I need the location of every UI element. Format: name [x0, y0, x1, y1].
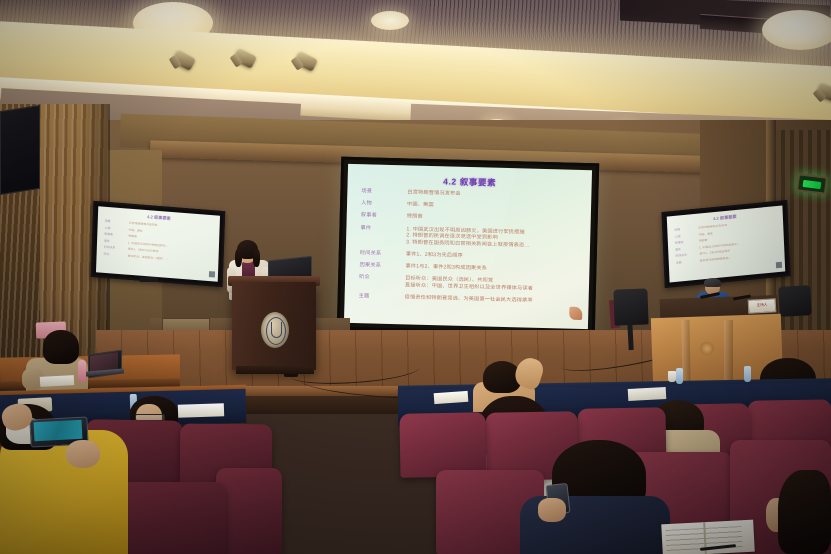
- projection-screen-surface: 4.2 叙事要素 场景白宫特朗普情况发布会人物中国、美国叙事者特朗普事件1. 中…: [344, 164, 592, 329]
- track-spotlight: [816, 83, 831, 102]
- lecture-hall-photo: 4.2 叙事要素 场景白宫特朗普情况发布会人物中国、美国叙事者特朗普事件1. 中…: [0, 0, 831, 554]
- slide-row: 时间关系事件1、2和3为先后顺序: [360, 250, 582, 262]
- slide-row-value: 事件1与2、事件2和3构成因果关系: [405, 263, 487, 272]
- slide-row-value: 中国、美国: [407, 202, 434, 209]
- monitor-row-label: 叙事者: [675, 240, 699, 246]
- stage-chair: [613, 288, 648, 325]
- slide-row-label: 时间关系: [360, 250, 406, 258]
- monitor-row-label: 主题: [676, 260, 700, 266]
- slide-row-label: 场景: [361, 188, 407, 196]
- tablecloth-knot: [700, 342, 714, 355]
- slide-row: 事件1. 中国武汉出现不明原因肺炎，美国进行安抚措施2. 特朗普的民调在逐次竞选…: [360, 225, 582, 251]
- ceiling-downlight: [762, 10, 831, 50]
- monitor-row-label: 事件: [675, 246, 699, 252]
- podium-base: [236, 366, 314, 374]
- monitor-row-value: 特朗普: [699, 239, 708, 243]
- exit-icon: [803, 179, 822, 188]
- monitor-row-label: 时间关系: [104, 246, 128, 251]
- slide-row-label: 叙事者: [361, 213, 407, 221]
- desk-paper: [628, 387, 667, 401]
- monitor-row-label: 场景: [105, 220, 129, 225]
- desk-paper: [40, 375, 74, 387]
- wall-monitor-left: 4.2 叙事要素 场景白宫特朗普情况发布会人物中国、美国叙事者特朗普事件1. 中…: [91, 201, 225, 287]
- monitor-row-value: 白宫特朗普情况发布会: [698, 224, 727, 230]
- seat-armrest: [258, 454, 285, 466]
- monitor-row-label: 人物: [675, 233, 699, 239]
- slide-content-rows: 场景白宫特朗普情况发布会人物中国、美国叙事者特朗普事件1. 中国武汉出现不明原因…: [358, 188, 583, 311]
- slide-row: 叙事者特朗普: [361, 213, 583, 225]
- slide-row-value: 目标听众：美国民众（选民）、共和党直接听众：中国、世界卫生组织以及全世界媒体与读…: [405, 276, 533, 293]
- name-placard: 主持人: [748, 298, 777, 313]
- tablecloth-fold: [724, 320, 733, 384]
- slide-row-label: 主题: [359, 293, 405, 301]
- slide-row-line: 事件1、2和3为先后顺序: [406, 251, 463, 259]
- slide-row: 主题疫情责任和特朗普竞选、为美国第一社会民大选得票率: [359, 293, 581, 305]
- name-placard-text: 主持人: [749, 302, 775, 308]
- exit-sign: [796, 173, 828, 195]
- monitor-slide-rows: 场景白宫特朗普情况发布会人物中国、美国叙事者特朗普事件1. 中国武汉出现不明原因…: [674, 219, 780, 269]
- slide-row-line: 特朗普: [407, 214, 423, 221]
- water-bottle: [676, 368, 683, 384]
- desk-paper: [178, 403, 224, 418]
- monitor-row-value: 白宫特朗普情况发布会: [129, 222, 158, 228]
- stage-chair: [778, 285, 812, 317]
- monitor-row-value: 目标听众：美国民众（选民）…: [127, 255, 168, 262]
- monitor-row-label: 人物: [104, 226, 128, 231]
- slide-row-value: 事件1、2和3为先后顺序: [406, 251, 463, 259]
- slide-row: 人物中国、美国: [361, 200, 583, 212]
- podium-crest-letter: [271, 322, 282, 338]
- audience-person-corner-hair: [778, 470, 831, 554]
- audience-person-front-right-hand: [538, 498, 566, 522]
- water-bottle: [744, 366, 751, 382]
- presenter-hair-side: [253, 249, 260, 267]
- smartphone-screen: [34, 420, 83, 441]
- slide-row: 因果关系事件1与2、事件2和3构成因果关系: [359, 262, 581, 274]
- monitor-row-value: 事件1、2和3为先后顺序: [699, 250, 730, 257]
- projection-screen: 4.2 叙事要素 场景白宫特朗普情况发布会人物中国、美国叙事者特朗普事件1. 中…: [337, 157, 599, 337]
- monitor-row-label: 听众: [104, 253, 128, 258]
- auditorium-seat: [399, 412, 486, 477]
- ceiling-downlight: [371, 11, 409, 30]
- slide-row-line: 事件1与2、事件2和3构成因果关系: [405, 263, 487, 272]
- audience-person-yellow-hand: [66, 440, 100, 468]
- desk-paper: [434, 391, 469, 404]
- paper-cup: [668, 371, 676, 382]
- slide-row-value: 疫情责任和特朗普竞选、为美国第一社会民大选得票率: [405, 294, 533, 304]
- monitor-corner-mark: [209, 271, 215, 277]
- slide-row-value: 1. 中国武汉出现不明原因肺炎，美国进行安抚措施2. 特朗普的民调在逐次竞选中受…: [406, 226, 530, 249]
- slide-row-value: 特朗普: [407, 214, 423, 221]
- monitor-row-value: 1. 中国武汉出现不明原因肺炎…: [128, 241, 169, 248]
- monitor-row-label: 叙事者: [104, 233, 128, 238]
- monitor-row-value: 中国、美国: [128, 228, 143, 233]
- monitor-slide-rows: 场景白宫特朗普情况发布会人物中国、美国叙事者特朗普事件1. 中国武汉出现不明原因…: [103, 220, 215, 268]
- audience-person-beige-hair: [43, 330, 79, 364]
- presenter-hair-side: [235, 249, 242, 267]
- seated-host-hair: [704, 278, 721, 287]
- monitor-row-value: 中国、美国: [699, 232, 714, 237]
- slide-row-label: 听众: [359, 274, 405, 288]
- wall-monitor-left-mount: [140, 277, 159, 282]
- slide-decoration-corner: [569, 307, 582, 320]
- monitor-corner-mark: [776, 262, 782, 269]
- wall-monitor-left-surface: 4.2 叙事要素 场景白宫特朗普情况发布会人物中国、美国叙事者特朗普事件1. 中…: [96, 206, 220, 282]
- slide-row-label: 因果关系: [359, 262, 405, 270]
- monitor-row-label: 时间关系: [675, 253, 699, 259]
- wall-monitor-right: 4.2 叙事要素 场景白宫特朗普情况发布会人物中国、美国叙事者特朗普事件1. 中…: [662, 200, 791, 288]
- monitor-row-label: 场景: [674, 227, 698, 233]
- monitor-row-value: 特朗普: [128, 235, 137, 239]
- slide-row-line: 白宫特朗普情况发布会: [407, 189, 461, 197]
- pink-water-bottle: [78, 360, 86, 382]
- slide-row: 听众目标听众：美国民众（选民）、共和党直接听众：中国、世界卫生组织以及全世界媒体…: [359, 274, 581, 293]
- slide-row-line: 中国、美国: [407, 202, 434, 209]
- monitor-row-value: 事件1、2和3为先后顺序: [128, 248, 159, 254]
- monitor-row-value: 疫情责任和特朗普竞选…: [700, 256, 732, 263]
- slide-row-line: 疫情责任和特朗普竞选、为美国第一社会民大选得票率: [405, 294, 533, 304]
- slide-row-value: 白宫特朗普情况发布会: [407, 189, 461, 197]
- wall-monitor-right-surface: 4.2 叙事要素 场景白宫特朗普情况发布会人物中国、美国叙事者特朗普事件1. 中…: [667, 205, 786, 282]
- slide-row-label: 事件: [360, 225, 407, 246]
- wall-speaker-left: [0, 105, 40, 195]
- slide-row-label: 人物: [361, 200, 407, 208]
